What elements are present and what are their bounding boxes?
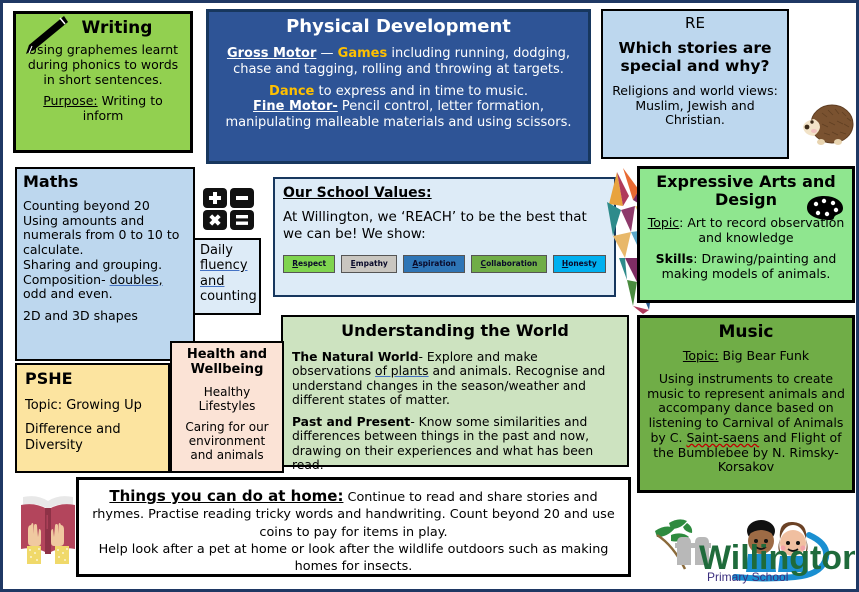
physical-dash: — (316, 46, 337, 61)
pshe-topic: Topic: Growing Up (25, 398, 160, 413)
fluency-word-2: fluency (200, 258, 254, 273)
hedgehog-icon (798, 91, 856, 153)
value-chip-honesty[interactable]: Honesty (553, 255, 606, 274)
ead-skills-label: Skills (656, 251, 694, 266)
ead-skills-line: Skills: Drawing/painting and making mode… (646, 252, 846, 282)
writing-purpose-label: Purpose: (43, 93, 97, 108)
health-and-wellbeing-panel: Health and Wellbeing Healthy Lifestyles … (170, 341, 284, 473)
writing-panel: Writing Using graphemes learnt during ph… (13, 11, 193, 153)
health-line-2: Caring for our environment and animals (176, 420, 278, 462)
pshe-line-2: Difference and Diversity (25, 422, 160, 453)
re-question: Which stories are special and why? (609, 39, 781, 76)
games-keyword: Games (338, 46, 388, 61)
school-values-chip-row: Respect Empathy Aspiration Collaboration… (283, 255, 606, 274)
value-chip-collaboration-rest: ollaboration (486, 259, 537, 268)
gross-motor-line: Gross Motor — Games including running, d… (215, 46, 582, 77)
music-topic-text: Big Bear Funk (719, 348, 810, 363)
dance-text: to express and in time to music. (314, 84, 528, 99)
re-title: RE (609, 15, 781, 33)
value-chip-respect[interactable]: Respect (283, 255, 335, 274)
logo-subtitle: Primary School (707, 570, 788, 584)
school-values-title: Our School Values: (283, 185, 606, 202)
value-chip-collaboration[interactable]: Collaboration (471, 255, 546, 274)
music-composer-saintsaens: Saint-saens (686, 430, 759, 445)
utw-past-label: Past and Present (292, 415, 410, 429)
school-values-panel: Our School Values: At Willington, we ‘RE… (273, 177, 616, 297)
maths-line-4: Composition- doubles, odd and even. (23, 273, 187, 303)
re-panel: RE Which stories are special and why? Re… (601, 9, 789, 159)
music-panel: Music Topic: Big Bear Funk Using instrum… (637, 315, 855, 493)
open-book-with-hands-icon (17, 491, 79, 569)
things-at-home-panel: Things you can do at home: Continue to r… (76, 477, 631, 577)
pshe-title: PSHE (25, 370, 160, 389)
value-chip-aspiration-rest: spiration (418, 259, 456, 268)
maths-panel: Maths Counting beyond 20 Using amounts a… (15, 167, 195, 361)
home-paragraph-2: Help look after a pet at home or look af… (88, 541, 619, 576)
understanding-the-world-panel: Understanding the World The Natural Worl… (281, 315, 629, 467)
fluency-word-4: counting (200, 289, 254, 304)
writing-title: Writing (50, 18, 184, 38)
pshe-panel: PSHE Topic: Growing Up Difference and Di… (15, 363, 170, 473)
value-chip-honesty-rest: onesty (568, 259, 597, 268)
maths-line-2: Using amounts and numerals from 0 to 10 … (23, 214, 187, 258)
dance-line: Dance to express and in time to music. (215, 84, 582, 99)
value-chip-empathy[interactable]: Empathy (341, 255, 397, 274)
music-topic-line: Topic: Big Bear Funk (646, 349, 846, 364)
utw-natural-world: The Natural World- Explore and make obse… (292, 350, 618, 408)
value-chip-empathy-rest: mpathy (356, 259, 388, 268)
re-body: Religions and world views: Muslim, Jewis… (609, 84, 781, 128)
maths-doubles-underlined: doubles, (110, 272, 163, 287)
fine-motor-label: Fine Motor- (253, 99, 338, 114)
maths-line-5: 2D and 3D shapes (23, 309, 187, 324)
music-title: Music (646, 322, 846, 342)
maths-title: Maths (23, 173, 187, 192)
expressive-arts-panel: Expressive Arts and Design Topic: Art to… (637, 166, 855, 303)
maths-composition-suffix: odd and even. (23, 286, 113, 301)
health-title: Health and Wellbeing (176, 347, 278, 378)
utw-past-present: Past and Present- Know some similarities… (292, 415, 618, 473)
pen-icon (20, 16, 68, 56)
daily-fluency-panel: Daily fluency and counting (193, 238, 261, 315)
writing-purpose: Purpose: Writing to inform (22, 94, 184, 124)
gross-motor-label: Gross Motor (227, 46, 316, 61)
school-values-text: At Willington, we ‘REACH’ to be the best… (283, 209, 606, 244)
dance-keyword: Dance (269, 84, 314, 99)
paint-palette-icon (806, 195, 844, 221)
utw-title: Understanding the World (292, 322, 618, 341)
value-chip-aspiration[interactable]: Aspiration (403, 255, 465, 274)
home-paragraph-1: Things you can do at home: Continue to r… (88, 486, 619, 541)
willington-primary-school-logo: Will ington Primary School (641, 509, 855, 585)
fluency-word-3: and (200, 274, 254, 289)
physical-development-title: Physical Development (215, 16, 582, 37)
math-operators-icon (202, 187, 255, 231)
value-chip-respect-rest: espect (298, 259, 326, 268)
maths-line-3: Sharing and grouping. (23, 258, 187, 273)
home-lead-label: Things you can do at home: (109, 487, 343, 505)
ead-topic-label: Topic (648, 215, 679, 230)
curriculum-overview-poster: Writing Using graphemes learnt during ph… (0, 0, 859, 592)
fine-motor-line: Fine Motor- Pencil control, letter forma… (215, 99, 582, 130)
health-line-1: Healthy Lifestyles (176, 385, 278, 413)
maths-composition-prefix: Composition- (23, 272, 110, 287)
music-body: Using instruments to create music to rep… (646, 372, 846, 475)
utw-natural-label: The Natural World (292, 350, 419, 364)
fluency-word-1: Daily (200, 243, 254, 258)
maths-line-1: Counting beyond 20 (23, 199, 187, 214)
physical-development-panel: Physical Development Gross Motor — Games… (206, 9, 591, 164)
utw-natural-underlined: of plants (375, 364, 429, 378)
music-topic-label: Topic: (683, 348, 719, 363)
